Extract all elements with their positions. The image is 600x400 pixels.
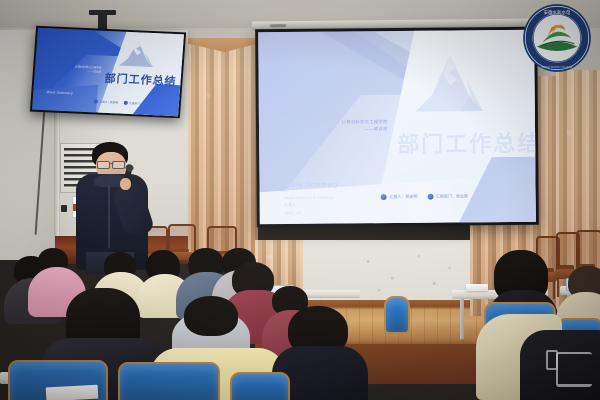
tv-credit-presenter: 汇报人：杨志明	[94, 99, 118, 104]
presenter-zipper	[108, 186, 110, 248]
wall-socket	[61, 205, 67, 212]
tv-slide-content: 计算机科学与工程学院 ——就业部 部门工作总结 Work Summary 汇报人…	[32, 28, 184, 116]
lecture-chair-front-3	[230, 372, 290, 400]
tv-main-title: 部门工作总结	[104, 70, 177, 89]
slide-subtitle-line1: 计算机科学与工程学院	[342, 119, 388, 124]
slide-main-title: 部门工作总结	[397, 126, 536, 159]
tv-subtitle: 计算机科学与工程学院 ——就业部	[74, 66, 101, 75]
mountain-illustration	[405, 53, 497, 119]
student-hair	[184, 296, 238, 336]
projected-slide: 计算机科学与工程学院 ——就业部 部门工作总结 “ Work Summary D…	[258, 30, 536, 224]
desk-leg	[460, 299, 464, 339]
tv-subtitle-line2: ——就业部	[88, 70, 102, 74]
slide-credits: 汇报人：杨志明 汇报部门：就业部	[381, 193, 468, 200]
slide-credit-presenter: 汇报人：杨志明	[381, 194, 418, 200]
credit-bullet-icon-2	[428, 194, 434, 200]
wall-texture	[355, 246, 465, 298]
credit-bullet-icon	[381, 194, 387, 200]
jacket-graphic-print-2	[546, 350, 558, 370]
svg-text:ANHUI WATER COLLEGE: ANHUI WATER COLLEGE	[542, 65, 573, 69]
jacket-graphic-print	[556, 352, 592, 387]
pull-down-projection-screen: 计算机科学与工程学院 ——就业部 部门工作总结 “ Work Summary D…	[255, 27, 539, 227]
tv-credit-presenter-text: 汇报人：杨志明	[99, 100, 117, 105]
slide-quote-mark: “	[276, 185, 280, 191]
glasses-icon	[96, 161, 126, 167]
slide-english-sub1: Department work summary	[284, 196, 334, 200]
paper-sheet-front	[46, 385, 99, 400]
credit-department-text: 汇报部门：就业部	[436, 193, 468, 199]
slide-credit-department: 汇报部门：就业部	[428, 193, 469, 199]
tv-credit-bullet-icon	[94, 99, 98, 103]
lecture-chair-front-2	[118, 362, 220, 400]
credit-presenter-text: 汇报人：杨志明	[390, 194, 418, 200]
slide-subtitle-line2: ——就业部	[342, 126, 388, 133]
student-desk-right-2	[300, 290, 360, 298]
chair-leg	[557, 278, 559, 297]
tv-credit-bullet-icon-2	[124, 101, 128, 105]
slide-english-sub3: 2023. 12	[285, 211, 301, 215]
lecture-chair-mid-1	[384, 296, 410, 334]
slide-subtitle: 计算机科学与工程学院 ——就业部	[342, 119, 388, 132]
tv-mountain-illustration	[114, 39, 160, 70]
school-emblem: 安徽水利水电 ANHUI WATER COLLEGE	[521, 2, 593, 74]
classroom-photo: 计算机科学与工程学院 ——就业部 部门工作总结 “ Work Summary D…	[0, 0, 600, 400]
notebook-on-desk	[466, 284, 488, 291]
chair-leg	[553, 281, 555, 300]
wall-mounted-television: 计算机科学与工程学院 ——就业部 部门工作总结 Work Summary 汇报人…	[30, 26, 186, 119]
slide-english-heading: Work Summary	[284, 182, 339, 189]
presenter-speaking	[68, 140, 160, 270]
slide-english-sub2: 汇报人	[284, 203, 296, 208]
presenter-hand	[120, 178, 131, 190]
